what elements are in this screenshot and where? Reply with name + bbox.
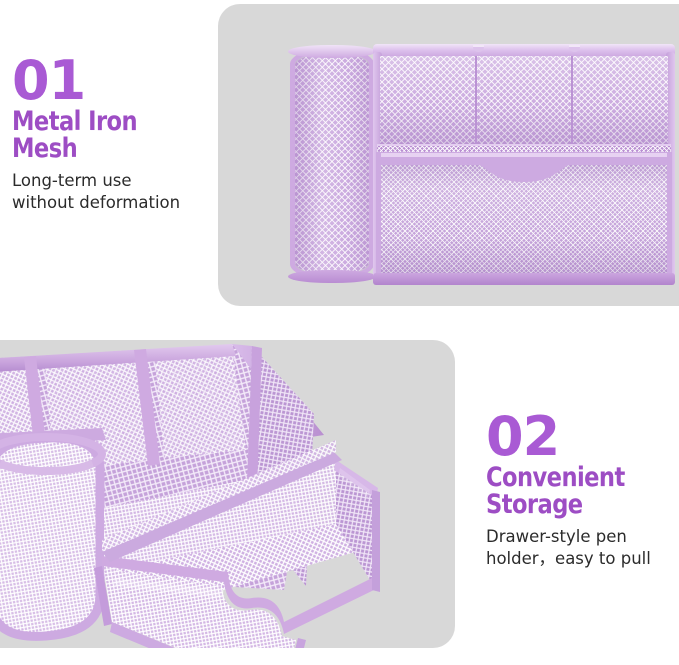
compartment-gloss bbox=[573, 56, 668, 146]
product-image-closeup-view bbox=[0, 340, 455, 648]
callout-02-body: Drawer-style pen holder，easy to pull bbox=[486, 526, 672, 570]
product-image-front-view bbox=[290, 44, 675, 287]
upper-compartment-3 bbox=[573, 56, 668, 146]
compartment-gloss bbox=[477, 56, 572, 146]
callout-01-number: 01 bbox=[12, 56, 212, 106]
upper-compartments bbox=[380, 56, 668, 146]
drawer-shading bbox=[381, 152, 667, 273]
bottom-rail bbox=[373, 273, 675, 285]
compartment-gloss bbox=[380, 56, 475, 146]
callout-01-title: Metal Iron Mesh bbox=[12, 108, 198, 163]
callout-02: 02 Convenient Storage Drawer-style pen h… bbox=[486, 412, 672, 569]
pen-cup-top-rim bbox=[288, 45, 376, 58]
organizer-body bbox=[373, 44, 675, 285]
upper-compartment-2 bbox=[477, 56, 574, 146]
upper-compartment-1 bbox=[380, 56, 477, 146]
callout-01: 01 Metal Iron Mesh Long-term use without… bbox=[12, 56, 212, 213]
callout-02-number: 02 bbox=[486, 412, 672, 462]
callout-01-body: Long-term use without deformation bbox=[12, 170, 212, 214]
pen-cup-shading bbox=[295, 53, 369, 275]
drawer bbox=[376, 152, 672, 278]
pen-cup-bottom-rim bbox=[288, 270, 376, 283]
callout-02-title: Convenient Storage bbox=[486, 464, 659, 519]
pen-cup-compartment bbox=[290, 48, 374, 280]
